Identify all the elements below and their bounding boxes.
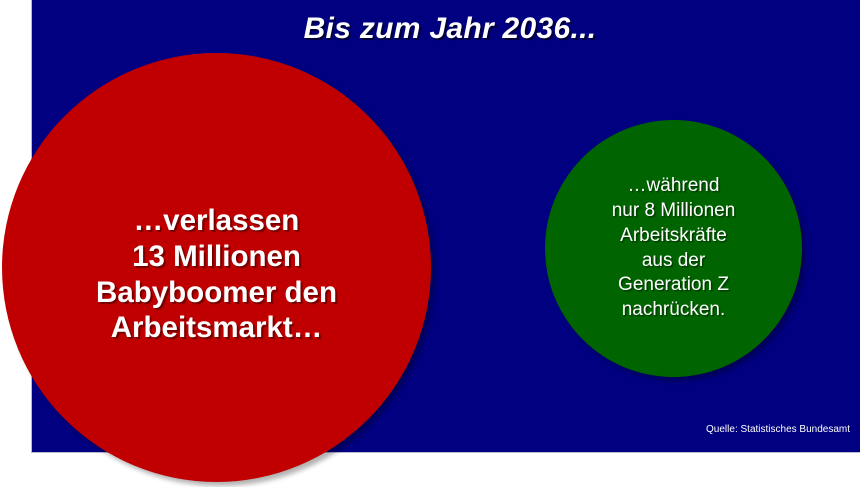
red-circle-line-4: Arbeitsmarkt…: [23, 310, 411, 346]
green-circle-line-2: nur 8 Millionen: [565, 199, 783, 224]
green-circle-line-6: nachrücken.: [565, 298, 783, 323]
source-citation: Quelle: Statistisches Bundesamt: [600, 424, 850, 435]
red-circle-line-1: …verlassen: [23, 203, 411, 239]
green-circle-text-block: …während nur 8 Millionen Arbeitskräfte a…: [559, 174, 789, 322]
green-circle-line-3: Arbeitskräfte: [565, 224, 783, 249]
page-title: Bis zum Jahr 2036...: [170, 12, 730, 46]
red-circle-line-2: 13 Millionen: [23, 239, 411, 275]
green-circle-line-1: …während: [565, 174, 783, 199]
red-circle-line-3: Babyboomer den: [23, 275, 411, 311]
red-circle-text-block: …verlassen 13 Millionen Babyboomer den A…: [17, 203, 417, 347]
red-circle-shape[interactable]: …verlassen 13 Millionen Babyboomer den A…: [2, 53, 431, 482]
green-circle-shape[interactable]: …während nur 8 Millionen Arbeitskräfte a…: [545, 120, 802, 377]
green-circle-line-4: aus der: [565, 249, 783, 274]
green-circle-line-5: Generation Z: [565, 273, 783, 298]
slide-canvas: Bis zum Jahr 2036... …verlassen 13 Milli…: [0, 0, 860, 487]
